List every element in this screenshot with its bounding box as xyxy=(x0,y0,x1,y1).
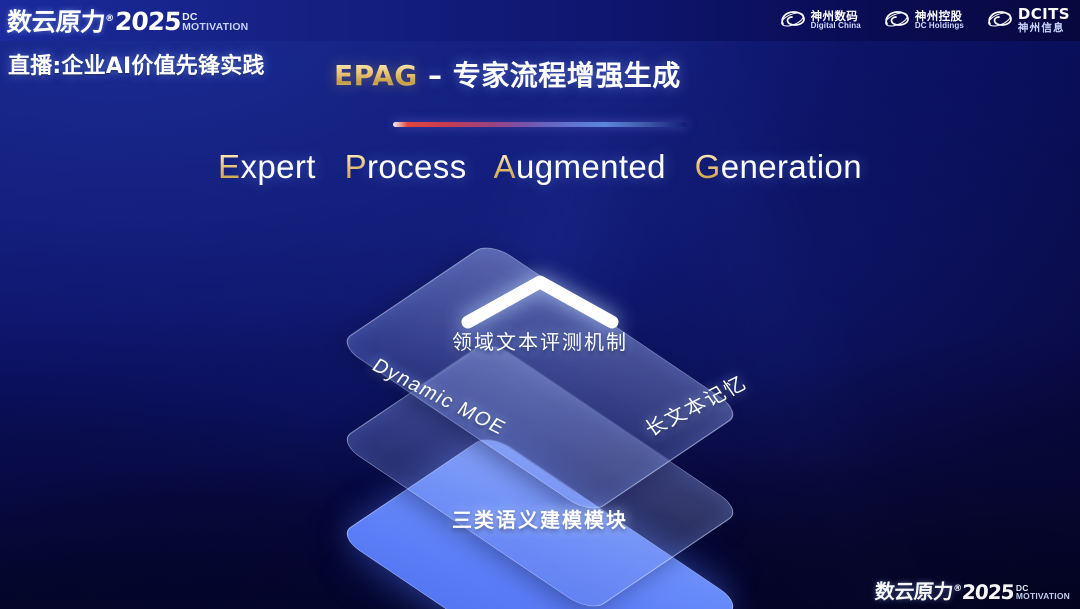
swirl-icon xyxy=(986,9,1013,31)
logo-dcits-text: DCITS 神州信息 xyxy=(1018,7,1070,34)
footer-brand-name-cn: 数云原力® xyxy=(874,579,962,602)
footer-registered-mark: ® xyxy=(952,584,961,594)
logo-dcits-cn: 神州信息 xyxy=(1018,23,1070,34)
diagram-layer-bottom-label: 三类语义建模模块 xyxy=(452,504,628,533)
subtitle-cap-p: P xyxy=(345,148,367,185)
title-divider xyxy=(393,122,687,127)
partner-logo-group: 神州数码 Digital China 神州控股 DC Holdings xyxy=(779,7,1080,34)
logo-digital-china-en: Digital China xyxy=(811,22,861,30)
subtitle-word-augmented: Augmented xyxy=(494,148,666,185)
subtitle-space-1 xyxy=(325,148,335,185)
subtitle-cap-a: A xyxy=(494,148,516,185)
diagram-layer-top-label: 领域文本评测机制 xyxy=(452,326,628,355)
subtitle-rest-augmented: ugmented xyxy=(516,148,666,185)
subtitle-rest-expert: xpert xyxy=(240,148,315,185)
header-bar: 数云原力® 2025 DC MOTIVATION 神州数码 Digital Ch… xyxy=(0,0,1080,41)
registered-mark: ® xyxy=(105,14,114,24)
subtitle-cap-g: G xyxy=(695,148,721,185)
subtitle-space-3 xyxy=(676,148,686,185)
footer-brand-year: 2025 xyxy=(962,582,1015,602)
slide-stage: 数云原力® 2025 DC MOTIVATION 神州数码 Digital Ch… xyxy=(0,0,1080,609)
logo-dc-holdings-text: 神州控股 DC Holdings xyxy=(915,10,964,30)
footer-brand-motivation-label: MOTIVATION xyxy=(1016,592,1070,601)
logo-dc-holdings: 神州控股 DC Holdings xyxy=(883,9,964,31)
subtitle-rest-generation: eneration xyxy=(721,148,862,185)
subtitle-word-expert: Expert xyxy=(218,148,316,185)
page-title-separator: – xyxy=(418,59,453,92)
logo-digital-china-text: 神州数码 Digital China xyxy=(811,10,861,30)
page-subtitle-english: Expert Process Augmented Generation xyxy=(0,148,1080,186)
subtitle-space-2 xyxy=(476,148,486,185)
brand-year: 2025 xyxy=(114,9,181,34)
brand-dc-motivation: DC MOTIVATION xyxy=(182,12,248,34)
logo-digital-china: 神州数码 Digital China xyxy=(779,9,861,31)
footer-brand-lockup: 数云原力® 2025 DC MOTIVATION xyxy=(875,579,1070,602)
page-title: EPAG – 专家流程增强生成 xyxy=(334,54,681,94)
subtitle-word-process: Process xyxy=(345,148,467,185)
page-title-chinese: 专家流程增强生成 xyxy=(453,59,681,92)
layered-stack-diagram: 领域文本评测机制 Dynamic MOE 长文本记忆 三类语义建模模块 xyxy=(260,214,820,594)
live-session-title: 直播:企业AI价值先锋实践 xyxy=(8,48,265,80)
header-brand-lockup: 数云原力® 2025 DC MOTIVATION xyxy=(0,7,248,34)
swirl-icon xyxy=(779,9,806,31)
subtitle-word-generation: Generation xyxy=(695,148,862,185)
subtitle-rest-process: rocess xyxy=(367,148,467,185)
logo-dc-holdings-en: DC Holdings xyxy=(915,22,964,30)
brand-motivation-label: MOTIVATION xyxy=(182,22,248,33)
swirl-icon xyxy=(883,9,910,31)
logo-dcits: DCITS 神州信息 xyxy=(986,7,1070,34)
logo-dcits-en: DCITS xyxy=(1018,7,1070,22)
brand-name-cn: 数云原力® xyxy=(6,7,114,34)
chevron-up-icon xyxy=(458,270,622,332)
page-title-acronym: EPAG xyxy=(334,59,418,92)
footer-brand-dc-motivation: DC MOTIVATION xyxy=(1016,584,1070,602)
subtitle-cap-e: E xyxy=(218,148,240,185)
